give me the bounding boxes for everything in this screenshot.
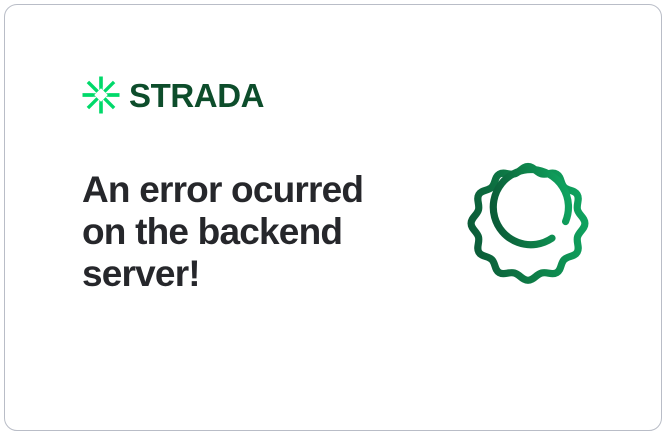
brand-name: STRADA <box>129 79 264 112</box>
error-screen: STRADA An error ocurred on the backend s… <box>0 0 666 436</box>
strada-asterisk-star-icon <box>82 76 120 114</box>
error-headline: An error ocurred on the backend server! <box>82 169 382 295</box>
brand-logo: STRADA <box>82 76 264 114</box>
error-card: STRADA An error ocurred on the backend s… <box>4 4 662 431</box>
